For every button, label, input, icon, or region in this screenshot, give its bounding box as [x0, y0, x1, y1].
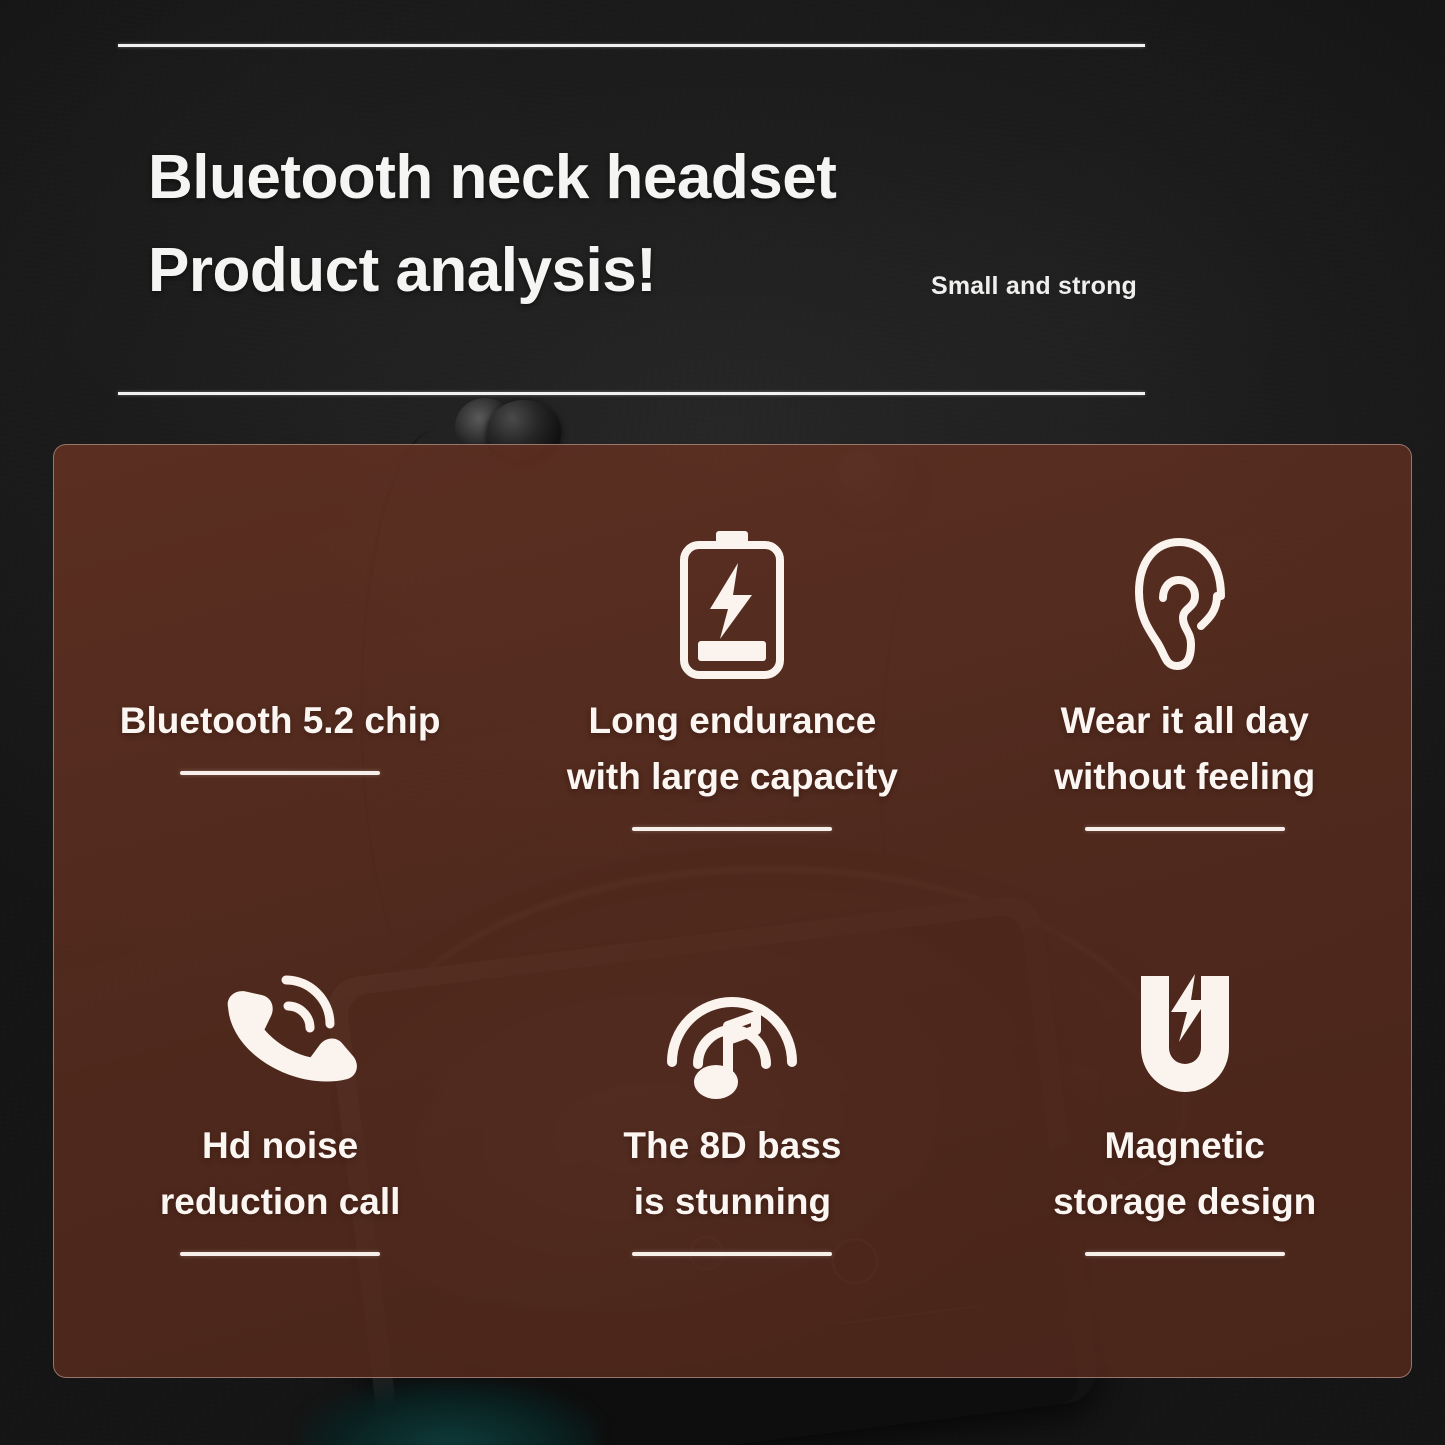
- feature-label: Long endurance with large capacity: [506, 693, 958, 805]
- feature-item-magnetic-storage[interactable]: Magnetic storage design: [959, 950, 1411, 1256]
- ear-icon-wrap: [959, 515, 1411, 693]
- magnet-icon-wrap: [959, 950, 1411, 1118]
- bottom-divider: [118, 392, 1145, 395]
- bluetooth-chip-icon: [54, 515, 506, 693]
- feature-item-bluetooth-chip[interactable]: Bluetooth 5.2 chip: [54, 515, 506, 775]
- page-subtitle: Small and strong: [931, 272, 1137, 301]
- music-bass-icon-wrap: [506, 950, 958, 1118]
- product-marketing-banner: Bluetooth neck headset Product analysis!…: [0, 0, 1445, 1445]
- feature-label: Bluetooth 5.2 chip: [54, 693, 506, 749]
- feature-underline: [632, 1252, 832, 1256]
- page-title-line-1: Bluetooth neck headset: [148, 130, 836, 225]
- battery-charging-icon-wrap: [506, 515, 958, 693]
- phone-call-icon: [214, 968, 346, 1100]
- feature-underline: [180, 771, 380, 775]
- page-title-line-2: Product analysis!: [148, 223, 656, 318]
- feature-underline: [632, 827, 832, 831]
- phone-edge-glow: [300, 1381, 600, 1445]
- feature-item-8d-bass[interactable]: The 8D bass is stunning: [506, 950, 958, 1256]
- feature-underline: [1085, 1252, 1285, 1256]
- phone-call-icon-wrap: [54, 950, 506, 1118]
- battery-charging-icon: [676, 529, 788, 679]
- top-divider: [118, 44, 1145, 47]
- feature-item-wear-all-day[interactable]: Wear it all day without feeling: [959, 515, 1411, 831]
- feature-item-hd-noise-reduction[interactable]: Hd noise reduction call: [54, 950, 506, 1256]
- feature-label: Magnetic storage design: [959, 1118, 1411, 1230]
- feature-underline: [180, 1252, 380, 1256]
- feature-grid: Bluetooth 5.2 chip Long endurance with l…: [54, 445, 1411, 1377]
- feature-label: The 8D bass is stunning: [506, 1118, 958, 1230]
- feature-item-long-endurance[interactable]: Long endurance with large capacity: [506, 515, 958, 831]
- feature-underline: [1085, 827, 1285, 831]
- ear-icon: [1129, 534, 1241, 674]
- feature-label: Wear it all day without feeling: [959, 693, 1411, 805]
- magnet-icon: [1123, 970, 1247, 1098]
- feature-panel: Bluetooth 5.2 chip Long endurance with l…: [53, 444, 1412, 1378]
- feature-label: Hd noise reduction call: [54, 1118, 506, 1230]
- music-bass-icon: [664, 970, 800, 1098]
